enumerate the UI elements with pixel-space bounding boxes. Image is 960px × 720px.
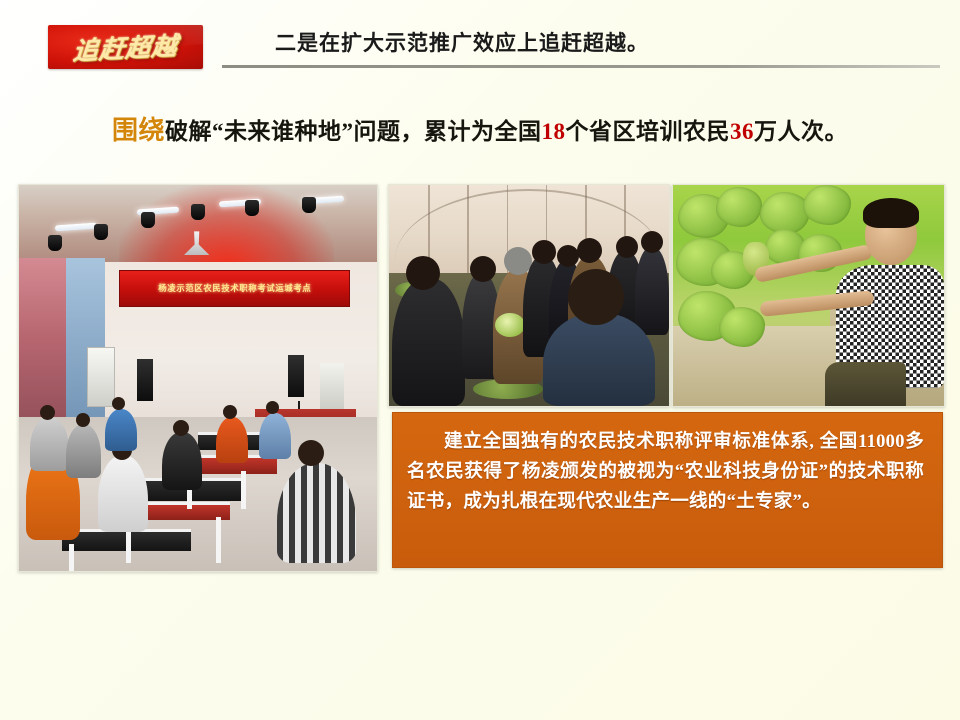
visitor-head — [406, 256, 440, 290]
visitor — [635, 247, 669, 335]
student-head — [298, 440, 324, 466]
subtitle-number-trainees: 36 — [730, 119, 754, 144]
student — [259, 413, 291, 459]
visitor-head — [568, 269, 624, 325]
page-title: 二是在扩大示范推广效应上追赶超越。 — [275, 27, 649, 57]
visitor — [392, 278, 465, 406]
subtitle-lead: 围绕 — [112, 116, 165, 145]
stage-lamp — [245, 200, 259, 216]
visitor-head — [470, 256, 496, 282]
farmer-trousers — [825, 362, 906, 406]
subtitle-part-3: 万人次。 — [754, 119, 848, 144]
student — [98, 455, 148, 532]
grape-leaf — [803, 185, 851, 225]
caption-text: 建立全国独有的农民技术职称评审标准体系, 全国11000多名农民获得了杨凌颁发的… — [407, 427, 924, 517]
exam-banner: 杨凌示范区农民技术职称考试运城考点 — [119, 270, 350, 307]
stage-lamp — [141, 212, 155, 228]
photo-vineyard — [672, 184, 945, 407]
visitor-head — [616, 236, 638, 258]
desk-leg — [216, 517, 221, 563]
student — [162, 432, 201, 490]
farmer-hair — [863, 198, 919, 228]
caption-box: 建立全国独有的农民技术职称评审标准体系, 全国11000多名农民获得了杨凌颁发的… — [392, 412, 943, 568]
student-head — [223, 405, 237, 419]
air-conditioner — [320, 363, 344, 409]
logo-text: 追赶超越 — [48, 25, 203, 69]
visitor-head — [557, 245, 579, 267]
speaker — [288, 355, 304, 397]
stage-lamp — [302, 197, 316, 213]
desk-leg — [69, 544, 74, 571]
student — [105, 409, 137, 451]
header-divider — [222, 65, 940, 68]
subtitle-part-2: 个省区培训农民 — [566, 119, 731, 144]
subtitle-part-1: 破解“未来谁种地”问题，累计为全国 — [165, 119, 542, 144]
speaker — [137, 359, 153, 401]
roof-beam — [467, 185, 469, 287]
stage-lamp — [94, 224, 108, 240]
visitor-foreground — [543, 313, 655, 406]
student — [277, 463, 356, 563]
desk-leg — [241, 471, 246, 510]
chase-surpass-logo: 追赶超越 — [48, 25, 203, 69]
subtitle-number-provinces: 18 — [542, 119, 566, 144]
photo-classroom: 杨凌示范区农民技术职称考试运城考点 — [18, 184, 378, 572]
exam-banner-text: 杨凌示范区农民技术职称考试运城考点 — [158, 282, 311, 294]
stage-lamp — [191, 204, 205, 220]
visitor-head — [577, 238, 602, 263]
visitor-head — [532, 240, 556, 264]
student — [66, 424, 102, 478]
slide-canvas: 追赶超越 二是在扩大示范推广效应上追赶超越。 围绕破解“未来谁种地”问题，累计为… — [0, 0, 960, 720]
student-head — [76, 413, 90, 427]
photo-greenhouse — [388, 184, 670, 407]
stage-lamp — [48, 235, 62, 251]
air-conditioner — [87, 347, 115, 407]
grape-leaf — [760, 192, 810, 234]
subtitle-line: 围绕破解“未来谁种地”问题，累计为全国18个省区培训农民36万人次。 — [0, 110, 960, 147]
student — [216, 417, 248, 463]
grape-leaf — [719, 307, 765, 347]
